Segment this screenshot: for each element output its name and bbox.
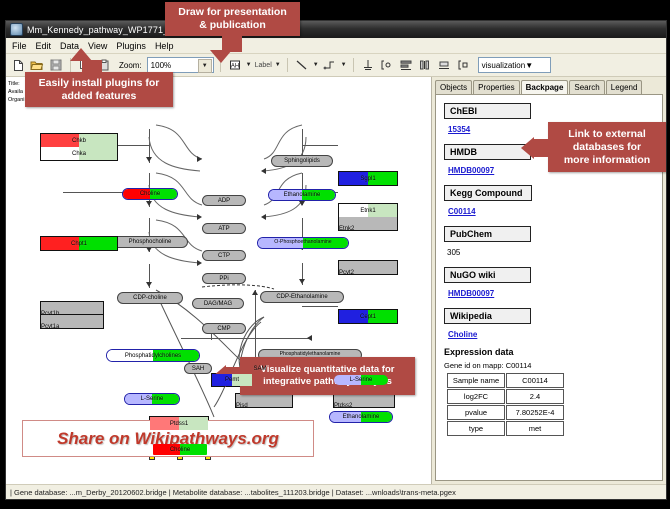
tab-search[interactable]: Search [569, 80, 604, 94]
tab-objects[interactable]: Objects [435, 80, 472, 94]
toolbar-separator [287, 58, 288, 72]
gene-box-etnk1[interactable]: Etnk1 [338, 203, 398, 218]
cell-key: type [447, 421, 505, 436]
cell-key: log2FC [447, 389, 505, 404]
gene-label: Cept1 [360, 314, 376, 320]
title-bar: Mm_Kennedy_pathway_WP1771_45176.gpml [6, 21, 666, 38]
label-tool-dropdown[interactable]: ▼ [275, 62, 281, 68]
callout-draw-arrow-head [210, 50, 232, 63]
svg-text:AH: AH [231, 64, 239, 70]
arrow-icon [299, 279, 305, 284]
gene-id-line: Gene id on mapp: C00114 [444, 361, 662, 370]
distribute-icon[interactable] [417, 57, 433, 73]
toolbar-separator [353, 58, 354, 72]
side-panel-tabs: Objects Properties Backpage Search Legen… [432, 77, 666, 94]
gene-box-chpt1[interactable]: Chpt1 [40, 236, 118, 251]
menu-item-edit[interactable]: Edit [36, 41, 52, 51]
table-row: log2FC 2.4 [447, 389, 564, 404]
open-folder-icon[interactable] [29, 57, 45, 73]
node-cdp-choline[interactable]: CDP-choline [117, 292, 183, 304]
gene-label: Chpt1 [71, 241, 87, 247]
status-text: | Gene database: ...m_Derby_20120602.bri… [10, 488, 456, 497]
tab-backpage[interactable]: Backpage [521, 80, 569, 95]
node-label: Choline [140, 191, 160, 197]
gene-label: Etnk2 [339, 226, 354, 231]
callout-line-2: databases for [573, 141, 641, 154]
callout-line-1: Easily install plugins for [39, 77, 160, 90]
bracket-icon[interactable] [379, 57, 395, 73]
db-value-pubchem: 305 [447, 248, 460, 257]
arrow-icon [197, 214, 202, 220]
node-ctp[interactable]: CTP [202, 250, 246, 261]
callout-line-1: Draw for presentation [178, 6, 287, 19]
connector-icon[interactable] [322, 57, 338, 73]
gene-label: Chka [72, 151, 86, 157]
node-label: O-Phosphoethanolamine [274, 240, 331, 245]
node-label: PPi [219, 276, 228, 282]
label-tool-text[interactable]: Label [255, 62, 272, 69]
arrow-icon [197, 156, 202, 162]
node-label: CDP-choline [133, 295, 167, 301]
callout-link-arrow-head [521, 137, 534, 159]
node-dagmag[interactable]: DAG/MAG [192, 298, 244, 309]
align-icon[interactable] [398, 57, 414, 73]
node-label: ADP [218, 198, 230, 204]
arrow-icon [261, 168, 266, 174]
node-l-serine-right[interactable]: L-Serine [333, 374, 389, 386]
gene-box-cept1[interactable]: Cept1 [338, 309, 398, 324]
line-icon[interactable] [294, 57, 310, 73]
node-label: L-Serine [350, 377, 373, 383]
table-row: pvalue 7.80252E-4 [447, 405, 564, 420]
save-icon[interactable] [48, 57, 64, 73]
cell-value: 7.80252E-4 [506, 405, 564, 420]
db-link-kegg[interactable]: C00114 [448, 207, 476, 216]
menu-item-file[interactable]: File [12, 41, 27, 51]
callout-link-arrow-tail [534, 139, 550, 157]
node-cdp-ethanolamine[interactable]: CDP-Ethanolamine [260, 291, 344, 303]
app-icon [10, 23, 23, 36]
db-section-kegg: Kegg Compound C00114 [444, 183, 662, 219]
group-icon[interactable] [455, 57, 471, 73]
table-row: Sample name C00114 [447, 373, 564, 388]
gene-box-pemt[interactable]: Pemt [211, 373, 253, 387]
arrow-icon [197, 260, 202, 266]
node-label: Ethanolamine [343, 414, 380, 420]
gene-label: Etnk1 [360, 208, 375, 214]
arrow-icon [252, 290, 258, 295]
callout-plugins-arrow-tail [82, 60, 102, 74]
gene-box-pisd[interactable]: Pisd [235, 393, 293, 408]
expression-table: Sample name C00114 log2FC 2.4 pvalue 7.8… [446, 372, 565, 437]
zoom-value: 100% [151, 61, 171, 70]
gene-box-ptdss1[interactable]: Ptdss1 [149, 416, 209, 431]
new-file-icon[interactable] [10, 57, 26, 73]
node-phosphocholine[interactable]: Phosphocholine [112, 236, 188, 248]
node-label: Phosphatidylcholines [125, 353, 181, 359]
gene-box-etnk2[interactable]: Etnk2 [338, 216, 398, 231]
gene-label: Ptdss2 [334, 403, 352, 408]
callout-line-2: added features [62, 90, 137, 103]
db-section-wikipedia: Wikipedia Choline [444, 306, 662, 342]
db-title: Wikipedia [444, 308, 531, 324]
status-bar: | Gene database: ...m_Derby_20120602.bri… [6, 484, 666, 499]
node-label: CTP [218, 253, 230, 259]
callout-draw: Draw for presentation & publication [165, 2, 300, 36]
connector [181, 338, 311, 339]
zoom-label: Zoom: [119, 61, 142, 70]
cell-key: Sample name [447, 373, 505, 388]
line-style-dropdown[interactable]: ▼ [313, 62, 319, 68]
node-o-phosphoethanolamine[interactable]: O-Phosphoethanolamine [257, 237, 349, 249]
gene-box-pcyt2[interactable]: Pcyt2 [338, 260, 398, 275]
node-label: Choline [170, 447, 190, 453]
gene-box-pcyt1a[interactable]: Pcyt1a [40, 314, 104, 329]
node-label: Phosphatidylethanolamine [280, 352, 341, 357]
stack-icon[interactable] [436, 57, 452, 73]
gene-label: Pcyt1a [41, 324, 59, 329]
menu-item-plugins[interactable]: Plugins [116, 41, 146, 51]
node-label: CMP [217, 326, 230, 332]
db-link-hmdb[interactable]: HMDB00097 [448, 166, 494, 175]
tab-legend[interactable]: Legend [606, 80, 643, 94]
node-label: ATP [218, 226, 229, 232]
cell-key: pvalue [447, 405, 505, 420]
node-label: SAM [253, 366, 266, 372]
node-label: Ethanolamine [284, 192, 321, 198]
node-choline-top[interactable]: Choline [122, 188, 178, 200]
db-section-nugo: NuGO wiki HMDB00097 [444, 265, 662, 301]
gene-label: Pemt [225, 377, 239, 383]
db-link-wikipedia[interactable]: Choline [448, 330, 477, 339]
callout-plugins: Easily install plugins for added feature… [25, 72, 173, 107]
node-cmp[interactable]: CMP [202, 323, 246, 334]
table-row: type met [447, 421, 564, 436]
node-sah[interactable]: SAH [184, 363, 212, 374]
node-choline-selected[interactable]: Choline [152, 443, 208, 456]
node-sphingolipids[interactable]: Sphingolipids [271, 155, 333, 167]
connector-style-dropdown[interactable]: ▼ [341, 62, 347, 68]
node-label: L-Serine [141, 396, 164, 402]
node-label: Phosphocholine [129, 239, 172, 245]
callout-link: Link to external databases for more info… [548, 122, 666, 172]
visualization-value: visualization [482, 61, 526, 70]
cell-value: met [506, 421, 564, 436]
gene-label: Sgpl1 [360, 176, 375, 182]
menu-item-help[interactable]: Help [155, 41, 174, 51]
node-atp[interactable]: ATP [202, 223, 246, 234]
connector [302, 306, 338, 307]
node-label: DAG/MAG [204, 301, 232, 307]
node-label: CDP-Ethanolamine [276, 294, 327, 300]
expression-data-heading: Expression data [444, 347, 662, 357]
gene-label: Pisd [236, 403, 248, 408]
node-label: Sphingolipids [284, 158, 320, 164]
callout-line-3: more information [564, 154, 650, 167]
node-adp[interactable]: ADP [202, 195, 246, 206]
zoom-combobox[interactable]: 100% ▼ [147, 57, 214, 73]
connector [255, 290, 256, 360]
arrow-icon [261, 214, 266, 220]
db-title: PubChem [444, 226, 531, 242]
screenshot-root: Mm_Kennedy_pathway_WP1771_45176.gpml Fil… [0, 0, 670, 509]
callout-visualize: Visualize quantitative data for integrat… [240, 357, 415, 395]
gene-box-sgpl1[interactable]: Sgpl1 [338, 171, 398, 186]
db-title: Kegg Compound [444, 185, 532, 201]
gene-box-chkb[interactable]: Chkb [40, 133, 118, 148]
callout-plugins-arrow-head [70, 48, 92, 61]
gene-label: Chkb [72, 138, 86, 144]
cell-value: C00114 [506, 373, 564, 388]
label-style-dropdown[interactable]: ▼ [246, 62, 252, 68]
node-ethanolamine-top[interactable]: Ethanolamine [268, 189, 336, 201]
tab-properties[interactable]: Properties [473, 80, 519, 94]
node-ethanolamine-bottom[interactable]: Ethanolamine [329, 411, 393, 423]
connector [302, 145, 338, 146]
arrow-icon [307, 335, 312, 341]
visualization-combobox[interactable]: visualization ▼ [478, 57, 551, 73]
cell-value: 2.4 [506, 389, 564, 404]
db-title: NuGO wiki [444, 267, 531, 283]
db-link-nugo[interactable]: HMDB00097 [448, 289, 494, 298]
callout-line-2: & publication [199, 19, 266, 32]
chevron-down-icon[interactable]: ▼ [525, 61, 533, 70]
db-title: ChEBI [444, 103, 531, 119]
node-l-serine-left[interactable]: L-Serine [124, 393, 180, 405]
node-phosphatidylcholines[interactable]: Phosphatidylcholines [106, 349, 200, 362]
anchor-icon[interactable] [360, 57, 376, 73]
db-section-pubchem: PubChem 305 [444, 224, 662, 260]
callout-line-1: Link to external [568, 128, 646, 141]
gene-box-chka[interactable]: Chka [40, 146, 118, 161]
gene-label: Pcyt2 [339, 270, 354, 275]
gene-box-ptdss2[interactable]: Ptdss2 [333, 393, 395, 408]
node-label: SAH [192, 366, 204, 372]
db-title: HMDB [444, 144, 531, 160]
gene-label: Ptdss1 [170, 421, 188, 427]
node-ppi[interactable]: PPi [202, 273, 246, 284]
menu-bar: File Edit Data View Plugins Help [6, 38, 666, 54]
arrow-icon [299, 201, 305, 206]
db-link-chebi[interactable]: 15354 [448, 125, 470, 134]
